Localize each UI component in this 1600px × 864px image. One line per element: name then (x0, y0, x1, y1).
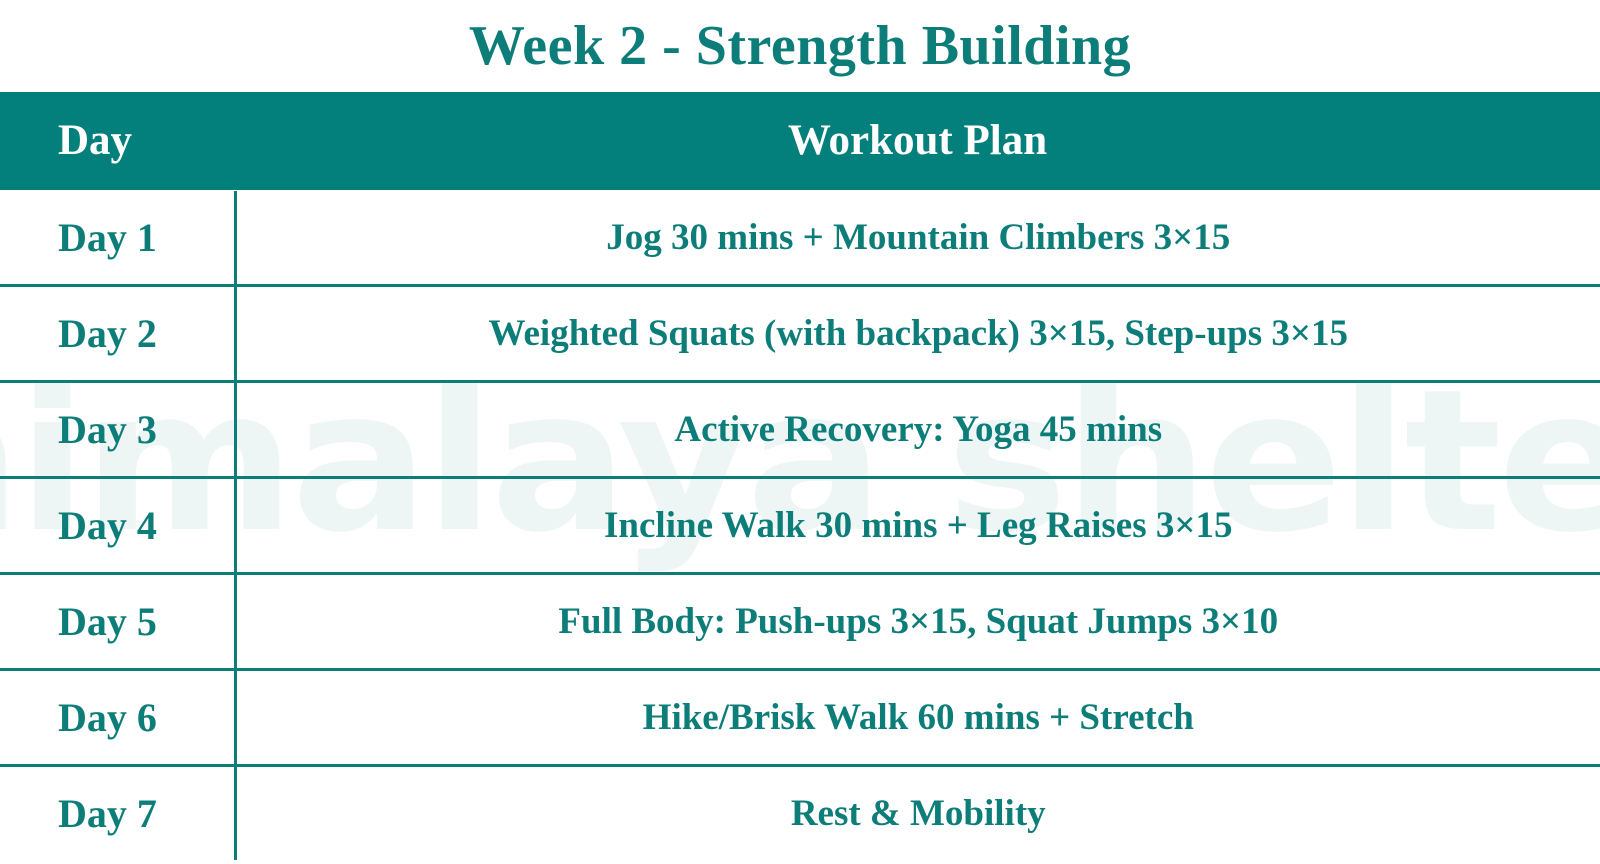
cell-day: Day 7 (0, 766, 235, 861)
table-row: Day 5Full Body: Push-ups 3×15, Squat Jum… (0, 574, 1600, 670)
cell-day: Day 4 (0, 478, 235, 574)
page-title-text: Week 2 - Strength Building (469, 14, 1131, 78)
cell-workout-plan: Jog 30 mins + Mountain Climbers 3×15 (235, 190, 1600, 286)
table-row: Day 2Weighted Squats (with backpack) 3×1… (0, 286, 1600, 382)
table-row: Day 4Incline Walk 30 mins + Leg Raises 3… (0, 478, 1600, 574)
cell-workout-plan: Rest & Mobility (235, 766, 1600, 861)
table-header: Day Workout Plan (0, 92, 1600, 190)
cell-day: Day 5 (0, 574, 235, 670)
cell-workout-plan: Full Body: Push-ups 3×15, Squat Jumps 3×… (235, 574, 1600, 670)
cell-day: Day 1 (0, 190, 235, 286)
table-row: Day 3Active Recovery: Yoga 45 mins (0, 382, 1600, 478)
cell-day: Day 3 (0, 382, 235, 478)
table-row: Day 6Hike/Brisk Walk 60 mins + Stretch (0, 670, 1600, 766)
table-body: Day 1Jog 30 mins + Mountain Climbers 3×1… (0, 190, 1600, 861)
cell-workout-plan: Hike/Brisk Walk 60 mins + Stretch (235, 670, 1600, 766)
cell-workout-plan: Incline Walk 30 mins + Leg Raises 3×15 (235, 478, 1600, 574)
table-header-row: Day Workout Plan (0, 92, 1600, 190)
workout-plan-page: himalaya shelter Week 2 - Strength Build… (0, 0, 1600, 864)
workout-plan-table: Day Workout Plan Day 1Jog 30 mins + Moun… (0, 92, 1600, 860)
cell-day: Day 6 (0, 670, 235, 766)
page-title: Week 2 - Strength Building (0, 0, 1600, 92)
column-header-day: Day (0, 92, 235, 190)
cell-day: Day 2 (0, 286, 235, 382)
table-row: Day 1Jog 30 mins + Mountain Climbers 3×1… (0, 190, 1600, 286)
cell-workout-plan: Active Recovery: Yoga 45 mins (235, 382, 1600, 478)
workout-plan-table-container: Day Workout Plan Day 1Jog 30 mins + Moun… (0, 92, 1600, 860)
cell-workout-plan: Weighted Squats (with backpack) 3×15, St… (235, 286, 1600, 382)
table-row: Day 7Rest & Mobility (0, 766, 1600, 861)
column-header-workout-plan: Workout Plan (235, 92, 1600, 190)
